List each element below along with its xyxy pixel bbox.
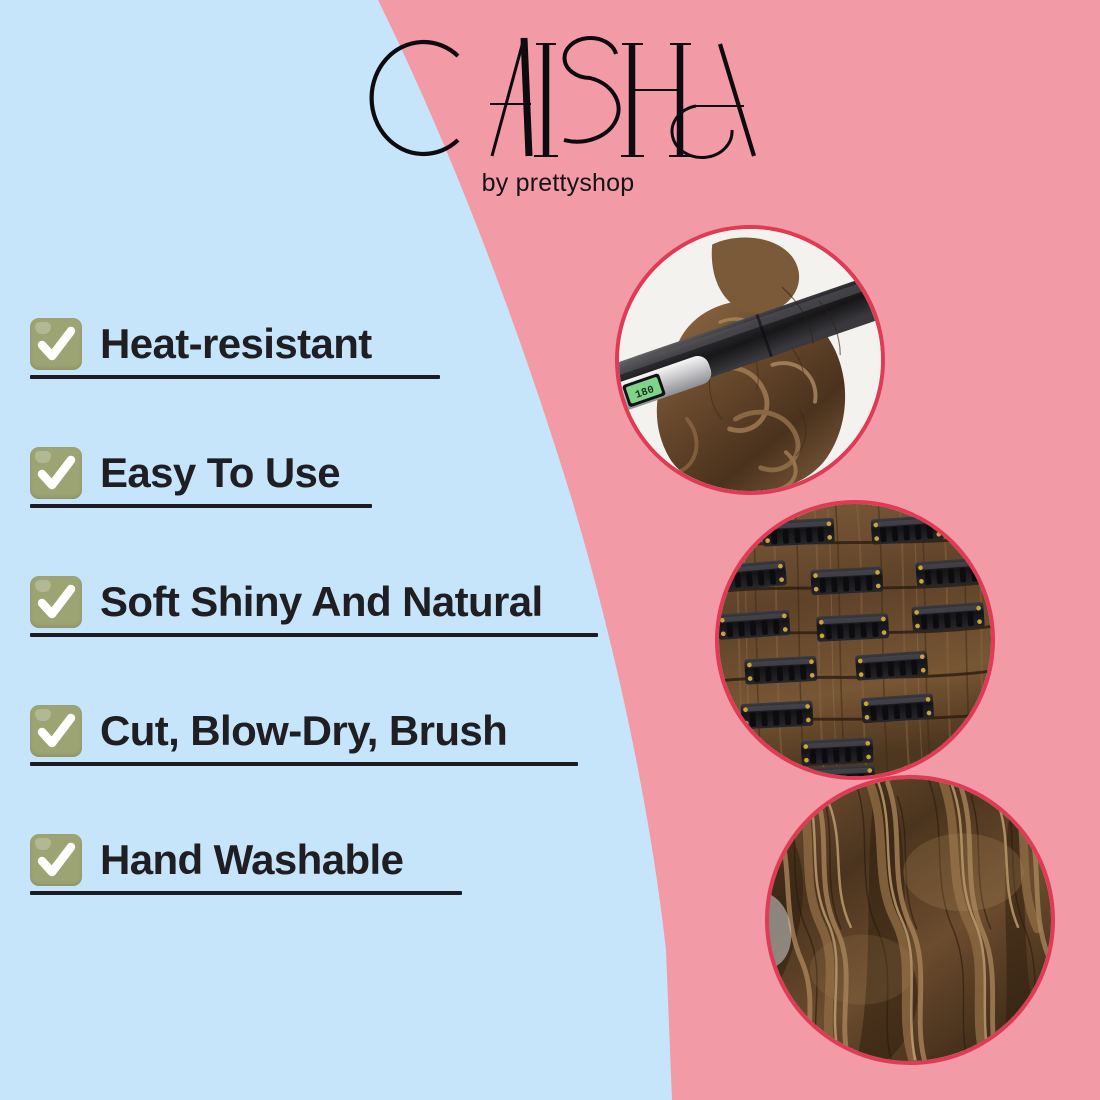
check-box-icon: [30, 447, 82, 499]
feature-item-hand-washable: Hand Washable: [30, 834, 630, 895]
feature-underline: [30, 762, 578, 766]
feature-underline: [30, 633, 598, 637]
feature-underline: [30, 504, 372, 508]
feature-label: Soft Shiny And Natural: [100, 580, 543, 624]
feature-list: Heat-resistant Easy To Use Soft Shiny An…: [30, 318, 630, 895]
feature-underline: [30, 891, 462, 895]
feature-item-soft-shiny-and-natural: Soft Shiny And Natural: [30, 576, 630, 637]
feature-underline: [30, 375, 440, 379]
feature-item-cut-blow-dry-brush: Cut, Blow-Dry, Brush: [30, 705, 630, 766]
infographic-canvas: by prettyshop Heat-resistant Easy To Use: [0, 0, 1100, 1100]
wavy-hair-closeup-photo: [765, 775, 1055, 1065]
feature-label: Heat-resistant: [100, 322, 372, 366]
feature-item-easy-to-use: Easy To Use: [30, 447, 630, 508]
check-box-icon: [30, 576, 82, 628]
feature-label: Easy To Use: [100, 451, 340, 495]
feature-item-heat-resistant: Heat-resistant: [30, 318, 630, 379]
feature-label: Hand Washable: [100, 838, 403, 882]
flat-iron-on-hair-photo: 180: [615, 225, 885, 495]
check-box-icon: [30, 834, 82, 886]
feature-label: Cut, Blow-Dry, Brush: [100, 709, 507, 753]
clip-in-wefts-photo: [715, 500, 995, 780]
check-box-icon: [30, 705, 82, 757]
check-box-icon: [30, 318, 82, 370]
